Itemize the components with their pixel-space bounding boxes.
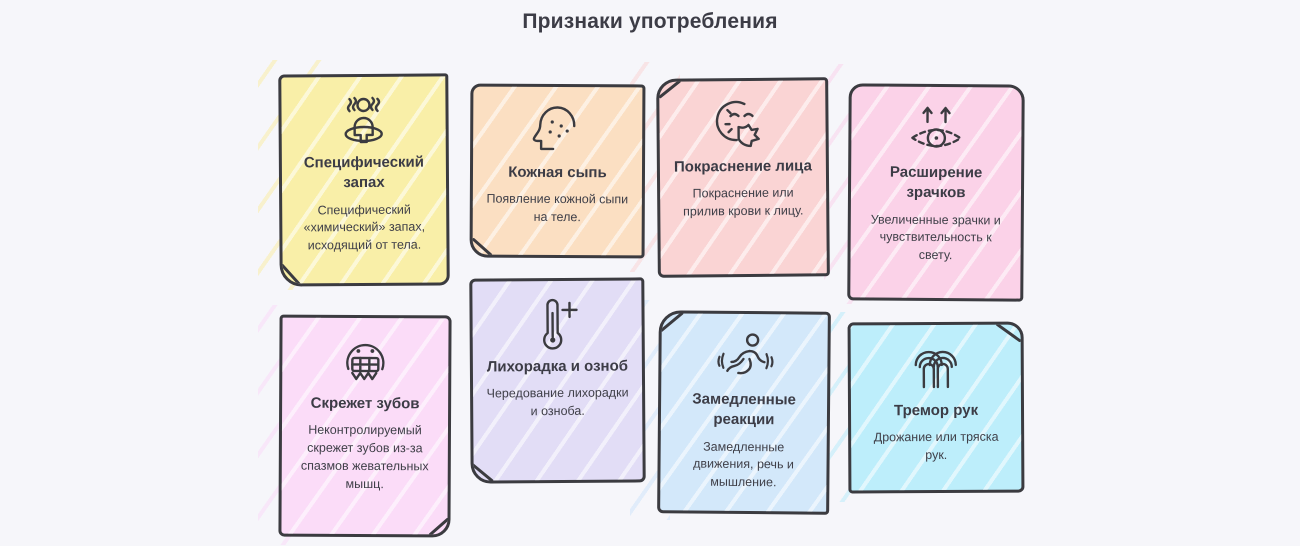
card-description: Чередование лихорадки и озноба. — [485, 385, 630, 422]
card-description: Специфический «химический» запах, исходя… — [294, 201, 434, 255]
card-description: Замедленные движения, речь и мышление. — [672, 438, 814, 492]
card-title: Специфический запах — [294, 153, 434, 194]
symptom-card-board: Специфический запах Специфический «химич… — [0, 0, 1300, 546]
thermometer-plus-icon — [531, 295, 583, 353]
card-description: Увеличенные зрачки и чувствительность к … — [862, 211, 1008, 265]
card-title: Кожная сыпь — [508, 163, 607, 184]
card-description: Покраснение или прилив крови к лицу. — [672, 185, 814, 222]
skin-rash-head-icon — [530, 101, 586, 159]
card-description: Неконтролируемый скрежет зубов из-за спа… — [294, 422, 436, 494]
dilated-eye-icon — [904, 101, 968, 159]
card-title: Расширение зрачков — [863, 162, 1009, 204]
card-description: Появление кожной сыпи на теле. — [485, 191, 630, 227]
card-specific-odor[interactable]: Специфический запах Специфический «химич… — [278, 73, 449, 286]
flushed-face-icon — [714, 95, 771, 153]
card-facial-flushing[interactable]: Покраснение лица Покраснение или прилив … — [656, 77, 830, 277]
card-slowed-reactions[interactable]: Замедленные реакции Замедленные движения… — [657, 310, 831, 514]
card-description: Дрожание или тряска рук. — [863, 429, 1009, 465]
card-teeth-grinding[interactable]: Скрежет зубов Неконтролируемый скрежет з… — [278, 315, 451, 538]
card-title: Лихорадка и озноб — [487, 357, 628, 378]
slow-runner-icon — [713, 328, 776, 387]
body-odor-icon — [332, 91, 394, 149]
card-title: Покраснение лица — [674, 156, 812, 177]
card-skin-rash[interactable]: Кожная сыпь Появление кожной сыпи на тел… — [470, 84, 646, 259]
shaking-hands-icon — [907, 339, 965, 397]
grinding-teeth-face-icon — [338, 332, 392, 390]
card-dilated-pupils[interactable]: Расширение зрачков Увеличенные зрачки и … — [847, 83, 1025, 301]
card-fever-chills[interactable]: Лихорадка и озноб Чередование лихорадки … — [469, 277, 645, 483]
card-title: Тремор рук — [894, 401, 978, 422]
card-title: Замедленные реакции — [673, 389, 815, 431]
card-hand-tremor[interactable]: Тремор рук Дрожание или тряска рук. — [848, 322, 1025, 494]
card-title: Скрежет зубов — [311, 394, 420, 415]
